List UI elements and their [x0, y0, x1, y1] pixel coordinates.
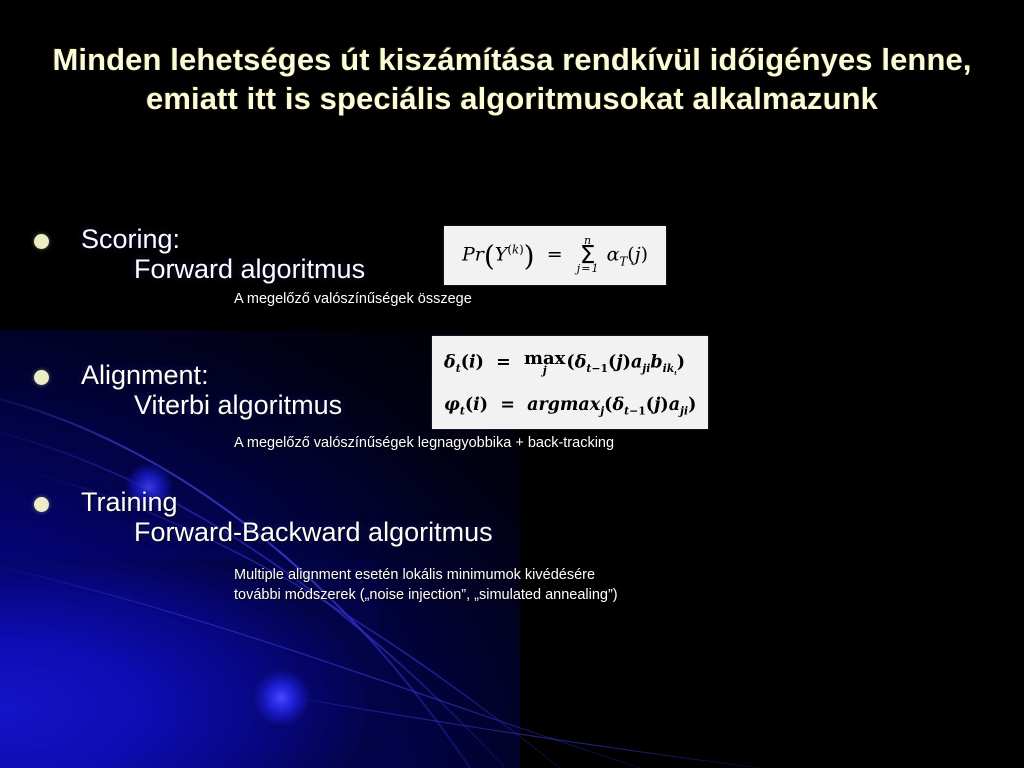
content-block-training: Training Forward-Backward algoritmus Mul… [0, 485, 1024, 519]
glow-dot-primary [252, 669, 310, 727]
viterbi-algorithm-formula: δt(i) = max j (δt−1(j)ajibikt) φt(i) = a… [432, 336, 708, 429]
bullet-sub-alignment: Viterbi algoritmus [134, 388, 342, 422]
caption-scoring: A megelőző valószínűségek összege [234, 289, 472, 309]
caption-training: Multiple alignment esetén lokális minimu… [234, 565, 618, 605]
bullet-sub-scoring: Forward algoritmus [134, 252, 365, 286]
slide-canvas: Minden lehetséges út kiszámítása rendkív… [0, 0, 1024, 768]
bullet-lead-alignment: Alignment: [81, 358, 209, 392]
bullet-lead-scoring: Scoring: [81, 222, 180, 256]
bullet-point-icon [34, 370, 49, 385]
slide-title: Minden lehetséges út kiszámítása rendkív… [34, 40, 990, 118]
viterbi-formula-line-2: φt(i) = argmaxj(δt−1(j)aji) [444, 397, 696, 417]
bullet-point-icon [34, 234, 49, 249]
bullet-sub-training: Forward-Backward algoritmus [134, 515, 493, 549]
caption-alignment: A megelőző valószínűségek legnagyobbika … [234, 433, 614, 453]
bullet-point-icon [34, 497, 49, 512]
bullet-row-training: Training [0, 485, 1024, 519]
forward-formula-expression: Pr(Y(k)) = n Σ j = 1 αT(j) [462, 236, 648, 275]
viterbi-formula-line-1: δt(i) = max j (δt−1(j)ajibikt) [444, 350, 685, 378]
bullet-lead-training: Training [81, 485, 178, 519]
forward-algorithm-formula: Pr(Y(k)) = n Σ j = 1 αT(j) [444, 226, 666, 285]
